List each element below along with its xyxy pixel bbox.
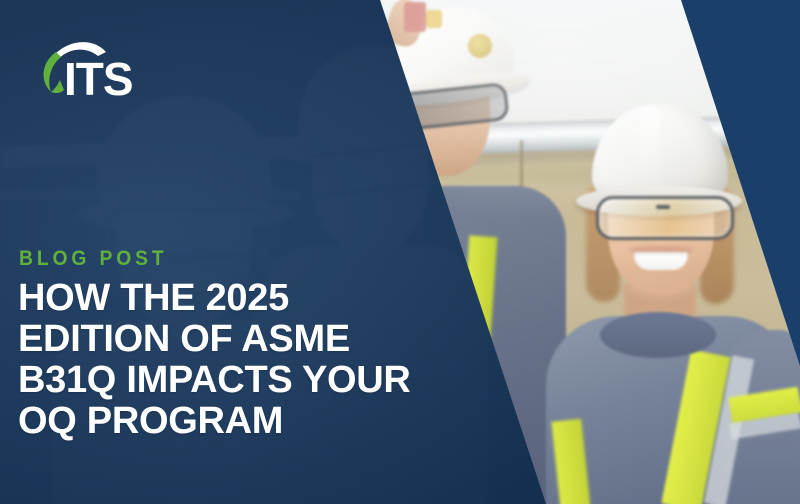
female-worker-collar: [600, 312, 716, 358]
pipeline-marker-post: [520, 140, 523, 188]
yellow-tag: [426, 10, 442, 28]
red-tag: [404, 2, 426, 32]
blog-post-banner: ITS BLOG POST HOW THE 2025 EDITION OF AS…: [0, 0, 800, 504]
page-title: HOW THE 2025 EDITION OF ASME B31Q IMPACT…: [18, 278, 488, 442]
its-logo[interactable]: ITS: [34, 36, 154, 106]
its-arc-logo: ITS: [34, 36, 154, 106]
eyebrow-label: BLOG POST: [19, 248, 168, 269]
headline-line-4: OQ PROGRAM: [18, 401, 488, 442]
svg-text:ITS: ITS: [64, 53, 133, 105]
female-worker-smile: [634, 252, 688, 270]
safety-glasses-bridge: [656, 205, 670, 209]
hard-hat-decal: [468, 34, 492, 58]
headline-line-2: EDITION OF ASME: [18, 319, 488, 360]
headline-line-3: B31Q IMPACTS YOUR: [18, 360, 488, 401]
female-worker-safety-glasses: [596, 196, 734, 240]
headline-line-1: HOW THE 2025: [18, 278, 488, 319]
hard-hat-ridge: [640, 106, 660, 192]
female-worker-chin: [626, 276, 694, 298]
